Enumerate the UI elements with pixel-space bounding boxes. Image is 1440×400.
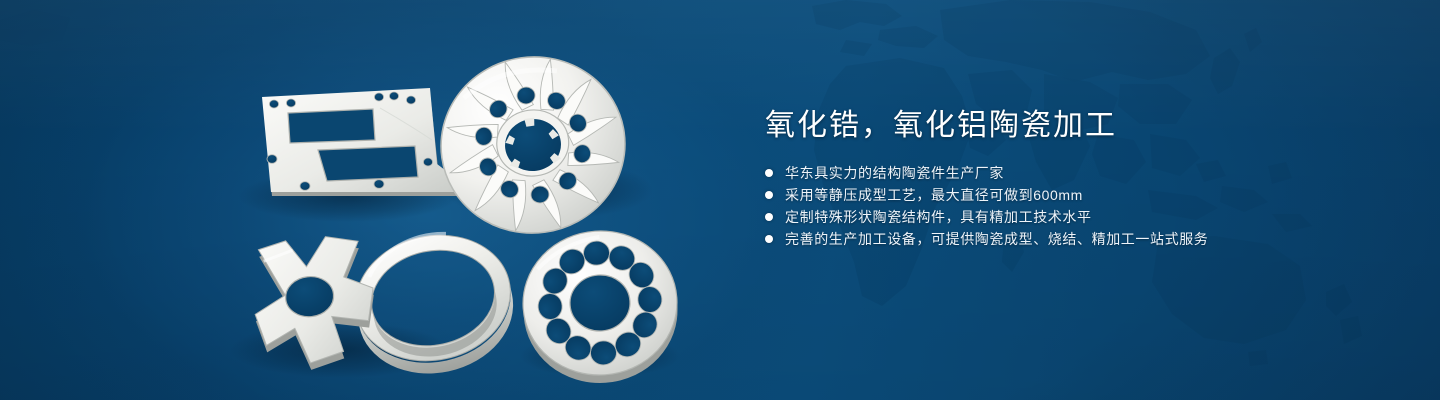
- banner-copy: 氧化锆，氧化铝陶瓷加工 华东具实力的结构陶瓷件生产厂家 采用等静压成型工艺，最大…: [765, 104, 1405, 250]
- banner-headline: 氧化锆，氧化铝陶瓷加工: [765, 104, 1405, 148]
- bullet-dot-icon: [765, 169, 773, 177]
- feature-text: 采用等静压成型工艺，最大直径可做到600mm: [785, 184, 1083, 206]
- feature-list: 华东具实力的结构陶瓷件生产厂家 采用等静压成型工艺，最大直径可做到600mm 定…: [765, 162, 1405, 250]
- feature-text: 完善的生产加工设备，可提供陶瓷成型、烧结、精加工一站式服务: [785, 228, 1208, 250]
- feature-text: 华东具实力的结构陶瓷件生产厂家: [785, 162, 1004, 184]
- product-photo-group: [0, 0, 720, 400]
- bullet-dot-icon: [765, 235, 773, 243]
- feature-list-item: 华东具实力的结构陶瓷件生产厂家: [765, 162, 1405, 184]
- feature-list-item: 采用等静压成型工艺，最大直径可做到600mm: [765, 184, 1405, 206]
- feature-list-item: 定制特殊形状陶瓷结构件，具有精加工技术水平: [765, 206, 1405, 228]
- ceramic-plate: [262, 88, 462, 196]
- feature-list-item: 完善的生产加工设备，可提供陶瓷成型、烧结、精加工一站式服务: [765, 228, 1405, 250]
- promo-banner: 氧化锆，氧化铝陶瓷加工 华东具实力的结构陶瓷件生产厂家 采用等静压成型工艺，最大…: [0, 0, 1440, 400]
- bullet-dot-icon: [765, 213, 773, 221]
- bullet-dot-icon: [765, 191, 773, 199]
- feature-text: 定制特殊形状陶瓷结构件，具有精加工技术水平: [785, 206, 1092, 228]
